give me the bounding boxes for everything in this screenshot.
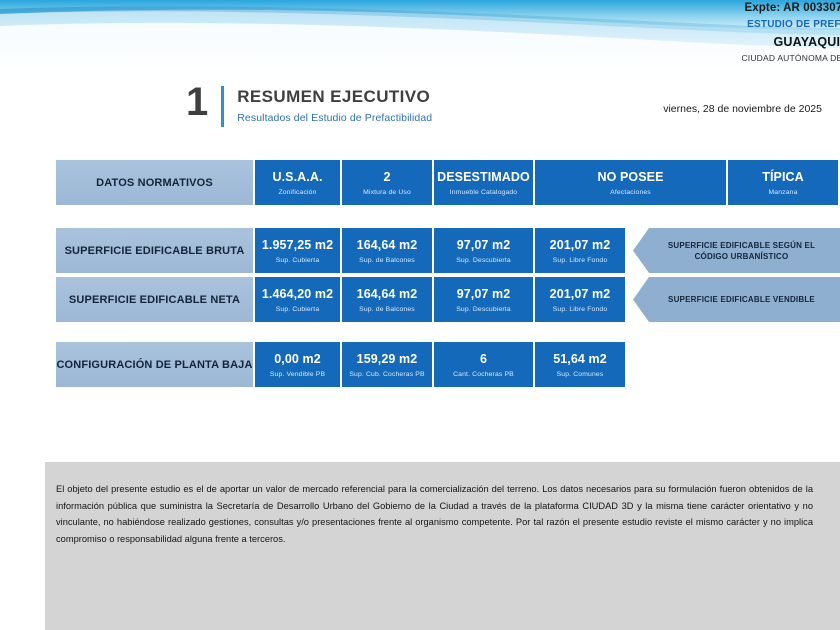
cell-value: 2 [383,170,390,184]
cell-value: 164,64 m2 [357,238,418,252]
cell-zonificacion: U.S.A.A. Zonificación [255,160,342,205]
header-banner: Expte: AR 003307/2 ESTUDIO DE PREFACTIBI… [0,0,840,75]
cell-sup-libre-fondo: 201,07 m2 Sup. Libre Fondo [535,277,625,322]
cell-value: 0,00 m2 [274,352,321,366]
cell-value: 1.957,25 m2 [262,238,333,252]
row-label: SUPERFICIE EDIFICABLE NETA [56,277,255,322]
cell-caption: Inmueble Catalogado [450,189,517,197]
table-row-superficie-neta: SUPERFICIE EDIFICABLE NETA 1.464,20 m2 S… [56,277,625,322]
page-subtitle: Resultados del Estudio de Prefactibilida… [237,112,432,124]
cell-caption: Sup. Descubierta [456,257,511,265]
cell-afectaciones: NO POSEE Afectaciones [535,160,728,205]
cell-value: TÍPICA [762,170,804,184]
cell-caption: Sup. Cub. Cocheras PB [349,371,424,379]
cell-caption: Mixtura de Uso [363,189,411,197]
cell-caption: Sup. Descubierta [456,306,511,314]
cell-sup-descubierta: 97,07 m2 Sup. Descubierta [434,277,535,322]
table-row-datos-normativos: DATOS NORMATIVOS U.S.A.A. Zonificación 2… [56,160,838,205]
expediente-number: Expte: AR 003307/2 [420,2,840,14]
section-header: 1 RESUMEN EJECUTIVO Resultados del Estud… [186,86,432,127]
study-type-label: ESTUDIO DE PREFACTIBILI [420,19,840,30]
section-number: 1 [186,84,208,120]
cell-value: 97,07 m2 [457,238,511,252]
section-divider-bar [221,86,224,127]
cell-caption: Sup. Cubierta [276,306,320,314]
cell-value: 201,07 m2 [550,287,611,301]
cell-value: NO POSEE [597,170,663,184]
cell-value: 201,07 m2 [550,238,611,252]
cell-value: 51,64 m2 [553,352,607,366]
property-name: GUAYAQUIL [420,35,840,49]
document-page: Expte: AR 003307/2 ESTUDIO DE PREFACTIBI… [0,0,840,630]
cell-caption: Sup. Comunes [557,371,604,379]
row-cells: 1.957,25 m2 Sup. Cubierta 164,64 m2 Sup.… [255,228,625,273]
jurisdiction-label: CIUDAD AUTÓNOMA DE BUENOS [420,53,840,63]
cell-caption: Zonificación [278,189,316,197]
row-label: DATOS NORMATIVOS [56,160,255,205]
cell-caption: Sup. de Balcones [359,257,415,265]
table-row-superficie-bruta: SUPERFICIE EDIFICABLE BRUTA 1.957,25 m2 … [56,228,625,273]
cell-value: 164,64 m2 [357,287,418,301]
table-row-planta-baja: CONFIGURACIÓN DE PLANTA BAJA 0,00 m2 Sup… [56,342,625,387]
cell-sup-cubierta: 1.464,20 m2 Sup. Cubierta [255,277,342,322]
cell-sup-balcones: 164,64 m2 Sup. de Balcones [342,277,434,322]
cell-sup-comunes: 51,64 m2 Sup. Comunes [535,342,625,387]
cell-sup-vendible-pb: 0,00 m2 Sup. Vendible PB [255,342,342,387]
cell-caption: Sup. Vendible PB [270,371,325,379]
cell-caption: Sup. Cubierta [276,257,320,265]
cell-value: 159,29 m2 [357,352,418,366]
cell-sup-balcones: 164,64 m2 Sup. de Balcones [342,228,434,273]
callout-codigo-urbanistico: SUPERFICIE EDIFICABLE SEGÚN EL CÓDIGO UR… [633,228,840,273]
cell-value: DESESTIMADO [437,170,530,184]
document-date: viernes, 28 de noviembre de 2025 [663,103,822,115]
cell-caption: Sup. de Balcones [359,306,415,314]
page-title: RESUMEN EJECUTIVO [237,87,432,107]
cell-manzana: TÍPICA Manzana [728,160,838,205]
callout-superficie-vendible: SUPERFICIE EDIFICABLE VENDIBLE [633,277,840,322]
cell-caption: Sup. Libre Fondo [553,306,608,314]
cell-cant-cocheras-pb: 6 Cant. Cocheras PB [434,342,535,387]
cell-caption: Sup. Libre Fondo [553,257,608,265]
row-cells: U.S.A.A. Zonificación 2 Mixtura de Uso D… [255,160,838,205]
cell-value: 1.464,20 m2 [262,287,333,301]
cell-value: U.S.A.A. [272,170,322,184]
header-text-group: Expte: AR 003307/2 ESTUDIO DE PREFACTIBI… [420,2,840,63]
cell-sup-descubierta: 97,07 m2 Sup. Descubierta [434,228,535,273]
cell-sup-libre-fondo: 201,07 m2 Sup. Libre Fondo [535,228,625,273]
cell-inmueble-catalogado: DESESTIMADO Inmueble Catalogado [434,160,535,205]
row-label: SUPERFICIE EDIFICABLE BRUTA [56,228,255,273]
cell-sup-cubierta: 1.957,25 m2 Sup. Cubierta [255,228,342,273]
cell-caption: Cant. Cocheras PB [453,371,514,379]
disclaimer-text: El objeto del presente estudio es el de … [56,481,813,547]
cell-sup-cub-cocheras-pb: 159,29 m2 Sup. Cub. Cocheras PB [342,342,434,387]
cell-caption: Manzana [768,189,797,197]
cell-mixtura-de-uso: 2 Mixtura de Uso [342,160,434,205]
cell-value: 97,07 m2 [457,287,511,301]
cell-value: 6 [480,352,487,366]
row-cells: 1.464,20 m2 Sup. Cubierta 164,64 m2 Sup.… [255,277,625,322]
row-label: CONFIGURACIÓN DE PLANTA BAJA [56,342,255,387]
row-cells: 0,00 m2 Sup. Vendible PB 159,29 m2 Sup. … [255,342,625,387]
cell-caption: Afectaciones [610,189,651,197]
